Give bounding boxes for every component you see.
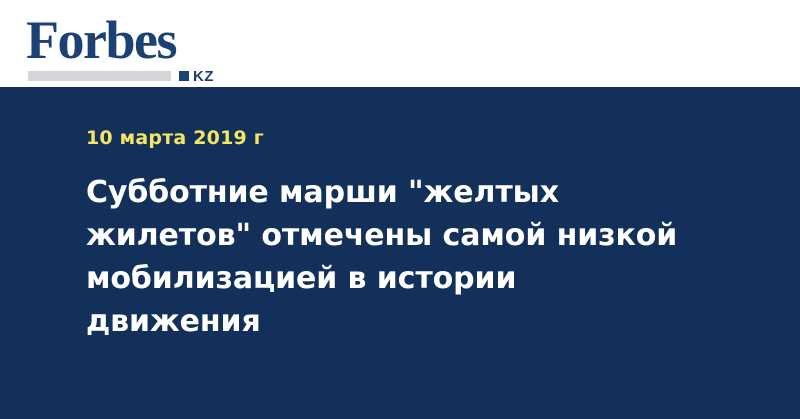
publish-date: 10 марта 2019 г (86, 127, 264, 149)
navy-square-icon (179, 71, 189, 81)
forbes-wordmark: Forbes (26, 13, 176, 67)
logo-kz-suffix: KZ (193, 69, 214, 84)
forbes-kz-logo[interactable]: Forbes KZ (26, 13, 226, 77)
hero-banner: 10 марта 2019 г Субботние марши "желтых … (0, 87, 800, 419)
page-title: Субботние марши "желтых жилетов" отмечен… (86, 171, 700, 343)
gray-bar-icon (28, 71, 171, 81)
article-hero-page: Forbes KZ 10 марта 2019 г Субботние марш… (0, 0, 800, 419)
site-header: Forbes KZ (0, 0, 800, 87)
